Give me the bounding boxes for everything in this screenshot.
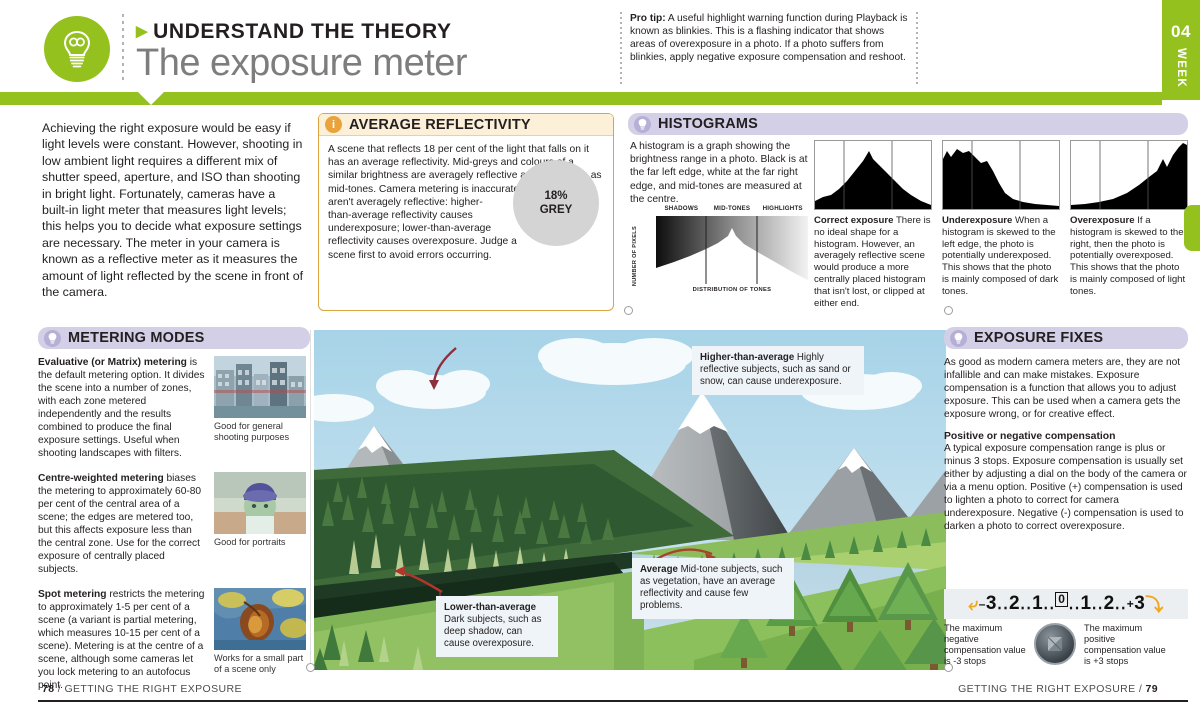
histogram-caption-under: Underexposure When a histogram is skewed… (942, 215, 1060, 298)
histogram-caption-correct: Correct exposure There is no ideal shape… (814, 215, 932, 309)
average-reflectivity-text-2: than-average reflectivity causes underex… (328, 209, 520, 262)
plus-sign: + (1127, 597, 1135, 611)
scale-dots: ․․ (1043, 595, 1055, 613)
footer-left-page: 78 (42, 683, 54, 695)
pin-dot (944, 306, 953, 315)
scale-dots: ․․ (1092, 595, 1104, 613)
grey-card-label: GREY (540, 203, 573, 217)
grey-card-value: 18% (544, 189, 567, 203)
metering-mode-evaluative: Evaluative (or Matrix) metering is the d… (38, 356, 310, 460)
info-icon: i (325, 116, 342, 133)
metering-mode-caption: Good for general shooting purposes (214, 421, 306, 443)
average-reflectivity-title: AVERAGE REFLECTIVITY (349, 117, 531, 133)
lightbulb-icon (44, 16, 110, 82)
callout-label: Higher-than-average (700, 352, 794, 363)
section-kicker: ▶UNDERSTAND THE THEORY (136, 20, 452, 44)
histogram-caption-label: Correct exposure (814, 215, 893, 226)
metering-modes-title: METERING MODES (68, 330, 205, 346)
textbook-page: ▶UNDERSTAND THE THEORY The exposure mete… (0, 0, 1200, 717)
week-indicator: 04 WEEK (1162, 0, 1200, 100)
tonal-distribution-chart: SHADOWS MID-TONES HIGHLIGHTS NUMBER OF P… (656, 216, 808, 294)
histogram-caption-text: When a histogram is skewed to the left e… (942, 215, 1058, 297)
pin-dot (306, 663, 315, 672)
scale-dots: ․․ (997, 595, 1009, 613)
scale-stop-plus-3: 3 (1134, 593, 1145, 615)
footer-left: 78 / GETTING THE RIGHT EXPOSURE (42, 683, 242, 695)
autumn-leaf-photo (214, 588, 306, 650)
tonal-gradient-background (656, 216, 808, 284)
footer-right-separator: / (1136, 683, 1146, 695)
exposure-fixes-header: EXPOSURE FIXES (944, 327, 1188, 349)
metering-mode-figure: Good for general shooting purposes (214, 356, 306, 460)
footer-divider (38, 700, 1188, 702)
footer-right-text: GETTING THE RIGHT EXPOSURE (958, 683, 1135, 695)
scale-dots: ․․ (1020, 595, 1032, 613)
caption-positive: The maximum positive compensation value … (1084, 623, 1166, 667)
pro-tip-text: A useful highlight warning function duri… (630, 13, 907, 63)
caption-negative: The maximum negative compensation value … (944, 623, 1026, 667)
metering-right-divider (310, 330, 311, 670)
exposure-scale-row: ⤶ – 3 ․․ 2 ․․ 1 ․․ 0 ․․ 1 ․․ 2 ․․ + 3 ⤵ (968, 591, 1164, 617)
metering-mode-text: Spot metering restricts the metering to … (38, 588, 206, 692)
header-green-bar (0, 92, 1162, 105)
metering-mode-figure: Good for portraits (214, 472, 306, 576)
intro-paragraph: Achieving the right exposure would be ea… (42, 120, 304, 300)
exposure-fixes-sub-label: Positive or negative compensation (944, 431, 1188, 442)
kicker-label: UNDERSTAND THE THEORY (153, 20, 451, 43)
pin-dot (624, 306, 633, 315)
metering-mode-spot: Spot metering restricts the metering to … (38, 588, 310, 692)
lightbulb-icon (44, 330, 61, 347)
metering-mode-caption: Good for portraits (214, 537, 306, 548)
left-arrow-icon: ⤶ (968, 594, 979, 615)
zone-label-shadows: SHADOWS (656, 205, 707, 212)
histogram-thumbnail-under (942, 140, 1060, 210)
pro-tip-label: Pro tip: (630, 13, 666, 24)
footer-right-page: 79 (1146, 683, 1158, 695)
scale-dots: ․․ (1068, 595, 1080, 613)
metering-mode-caption: Works for a small part of a scene only (214, 653, 306, 675)
histogram-y-axis-label: NUMBER OF PIXELS (632, 226, 638, 286)
histogram-example-under: Underexposure When a histogram is skewed… (942, 140, 1060, 309)
histogram-caption-text: If a histogram is skewed to the right, t… (1070, 215, 1185, 297)
histogram-caption-label: Underexposure (942, 215, 1012, 226)
histogram-example-correct: Correct exposure There is no ideal shape… (814, 140, 932, 309)
footer-right: GETTING THE RIGHT EXPOSURE / 79 (958, 683, 1158, 695)
callout-label: Lower-than-average (444, 602, 536, 613)
metering-mode-centre-weighted: Centre-weighted metering biases the mete… (38, 472, 310, 576)
metering-mode-text: Centre-weighted metering biases the mete… (38, 472, 206, 576)
histogram-example-over: Overexposure If a histogram is skewed to… (1070, 140, 1188, 309)
histogram-x-axis-label: DISTRIBUTION OF TONES (656, 287, 808, 293)
pro-tip-box: Pro tip: A useful highlight warning func… (628, 12, 908, 86)
week-number: 04 (1171, 22, 1191, 42)
metering-mode-text: Evaluative (or Matrix) metering is the d… (38, 356, 206, 460)
metering-modes-header: METERING MODES (38, 327, 310, 349)
protip-left-divider (620, 12, 622, 86)
histogram-caption-label: Overexposure (1070, 215, 1135, 226)
metering-mode-body: restricts the metering to approximately … (38, 589, 204, 691)
exposure-compensation-dial (1034, 623, 1076, 665)
exposure-compensation-scale: ⤶ – 3 ․․ 2 ․․ 1 ․․ 0 ․․ 1 ․․ 2 ․․ + 3 ⤵ (944, 589, 1188, 619)
side-green-tab (1184, 205, 1200, 251)
exposure-fixes-sub-text: A typical exposure compensation range is… (944, 442, 1188, 533)
callout-lower-than-average: Lower-than-average Dark subjects, such a… (436, 596, 558, 657)
histogram-caption-text: There is no ideal shape for a histogram.… (814, 215, 931, 309)
scale-stop-zero: 0 (1055, 592, 1068, 607)
callout-label: Average (640, 564, 678, 575)
histograms-header: HISTOGRAMS (628, 113, 1188, 135)
scale-stop-minus-1: 1 (1032, 593, 1043, 615)
scale-stop-minus-3: 3 (986, 593, 997, 615)
histograms-intro: A histogram is a graph showing the brigh… (630, 140, 808, 206)
metering-modes-panel: METERING MODES Evaluative (or Matrix) me… (38, 327, 310, 667)
average-reflectivity-body: A scene that reflects 18 per cent of the… (319, 136, 613, 262)
footer-left-separator: / (54, 683, 64, 695)
metering-mode-label: Evaluative (or Matrix) metering (38, 357, 187, 368)
histograms-title: HISTOGRAMS (658, 116, 758, 132)
lightbulb-icon (950, 330, 967, 347)
week-label: WEEK (1175, 48, 1187, 88)
exposure-scale-captions: The maximum negative compensation value … (944, 623, 1188, 667)
exposure-fixes-subsection: Positive or negative compensation A typi… (944, 431, 1188, 533)
metering-mode-figure: Works for a small part of a scene only (214, 588, 306, 692)
header-notch (138, 92, 164, 105)
portrait-photo (214, 472, 306, 534)
metering-mode-body: is the default metering option. It divid… (38, 357, 205, 459)
page-header: ▶UNDERSTAND THE THEORY The exposure mete… (0, 0, 1200, 100)
histogram-zone-labels: SHADOWS MID-TONES HIGHLIGHTS (656, 205, 808, 212)
city-buildings-photo (214, 356, 306, 418)
triangle-marker-icon: ▶ (136, 23, 148, 40)
header-dotted-divider (122, 14, 124, 84)
scale-stop-plus-1: 1 (1081, 593, 1092, 615)
zone-label-midtones: MID-TONES (707, 205, 758, 212)
right-arrow-icon: ⤵ (1145, 591, 1164, 617)
minus-sign: – (979, 597, 986, 611)
grey-card-18-percent: 18% GREY (513, 160, 599, 246)
lightbulb-icon (634, 116, 651, 133)
callout-average: Average Mid-tone subjects, such as veget… (632, 558, 794, 619)
histogram-examples: Correct exposure There is no ideal shape… (814, 140, 1188, 309)
callout-text: Dark subjects, such as deep shadow, can … (444, 614, 541, 649)
footer-left-text: GETTING THE RIGHT EXPOSURE (64, 683, 241, 695)
zone-label-highlights: HIGHLIGHTS (757, 205, 808, 212)
histogram-thumbnail-over (1070, 140, 1188, 210)
scale-stop-minus-2: 2 (1009, 593, 1020, 615)
callout-higher-than-average: Higher-than-average Highly reflective su… (692, 346, 864, 395)
histograms-panel: HISTOGRAMS A histogram is a graph showin… (628, 113, 1188, 311)
page-title: The exposure meter (136, 42, 467, 85)
metering-mode-label: Spot metering (38, 589, 107, 600)
exposure-fixes-title: EXPOSURE FIXES (974, 330, 1103, 346)
histogram-thumbnail-correct (814, 140, 932, 210)
metering-mode-label: Centre-weighted metering (38, 473, 164, 484)
metering-mode-body: biases the metering to approximately 60-… (38, 473, 201, 575)
protip-right-divider (916, 12, 918, 86)
scale-stop-plus-2: 2 (1104, 593, 1115, 615)
histogram-caption-over: Overexposure If a histogram is skewed to… (1070, 215, 1188, 298)
scale-dots: ․․ (1115, 595, 1127, 613)
exposure-fixes-intro: As good as modern camera meters are, the… (944, 356, 1188, 421)
average-reflectivity-panel: i AVERAGE REFLECTIVITY A scene that refl… (318, 113, 614, 311)
header-corner-fill (1140, 0, 1162, 92)
average-reflectivity-header: i AVERAGE REFLECTIVITY (319, 114, 613, 136)
exposure-fixes-panel: EXPOSURE FIXES As good as modern camera … (944, 327, 1188, 667)
